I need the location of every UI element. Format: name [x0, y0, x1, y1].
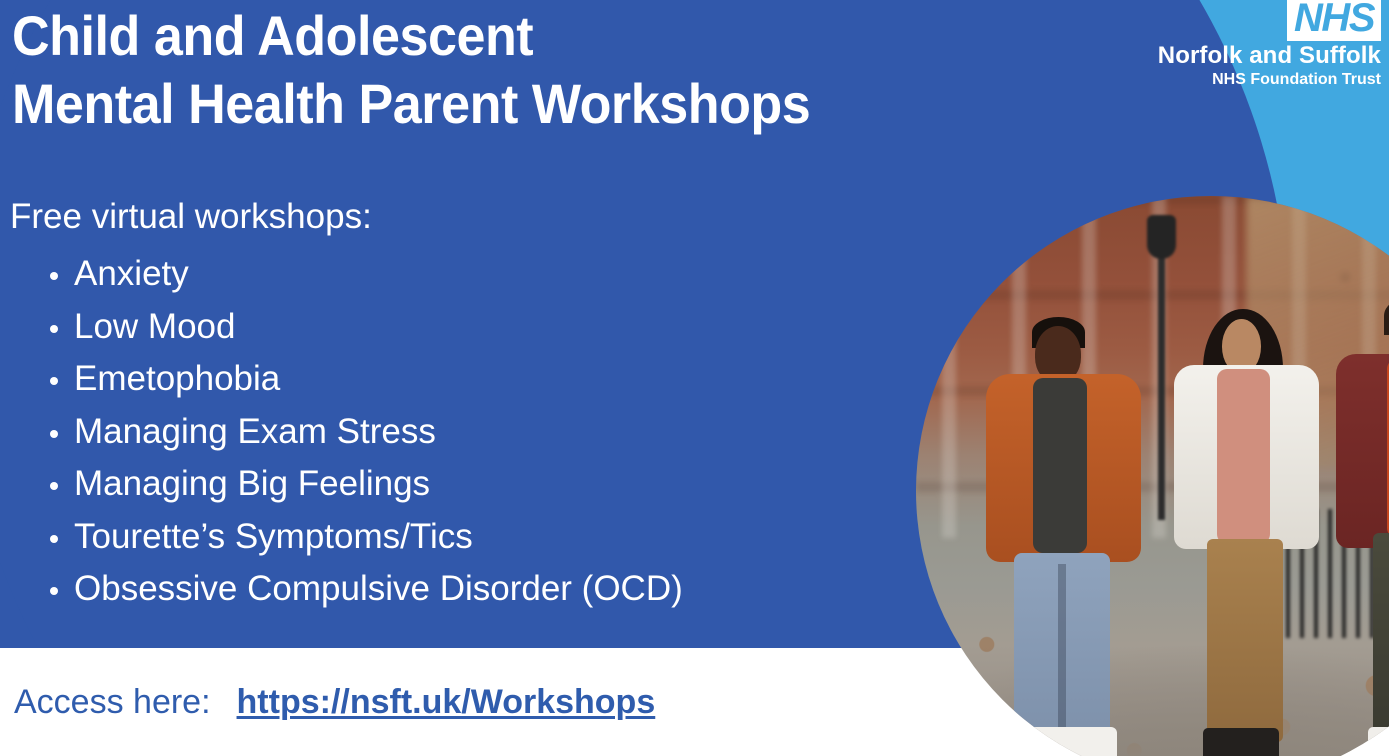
- nhs-trust-name: Norfolk and Suffolk: [1158, 43, 1381, 69]
- workshop-list: Anxiety Low Mood Emetophobia Managing Ex…: [42, 248, 683, 616]
- workshops-url-link[interactable]: https://nsft.uk/Workshops: [237, 682, 656, 722]
- person-hoodie: [1217, 369, 1270, 544]
- nhs-trust-logo: NHS Norfolk and Suffolk NHS Foundation T…: [1158, 0, 1381, 89]
- list-item: Obsessive Compulsive Disorder (OCD): [42, 563, 683, 616]
- list-item: Emetophobia: [42, 353, 683, 406]
- nhs-trust-subtitle: NHS Foundation Trust: [1158, 70, 1381, 89]
- list-item: Managing Exam Stress: [42, 406, 683, 459]
- photo-person-left: [975, 326, 1152, 756]
- person-shirt: [1033, 378, 1086, 553]
- students-walking-photo: [916, 196, 1389, 756]
- person-cargo-trousers: [1373, 533, 1389, 741]
- photo-person-right: [1329, 302, 1389, 756]
- list-item: Anxiety: [42, 248, 683, 301]
- page-title-line-1: Child and Adolescent: [12, 2, 810, 70]
- person-hair: [1384, 297, 1389, 335]
- photo-background: [916, 196, 1389, 756]
- person-boots: [1203, 728, 1279, 756]
- person-sneakers: [1007, 727, 1117, 756]
- list-item: Low Mood: [42, 301, 683, 354]
- page-title-line-2: Mental Health Parent Workshops: [12, 70, 810, 138]
- access-footer: Access here: https://nsft.uk/Workshops: [14, 682, 655, 722]
- person-sneakers: [1368, 727, 1389, 756]
- poster-canvas: NHS Norfolk and Suffolk NHS Foundation T…: [0, 0, 1389, 756]
- page-title: Child and Adolescent Mental Health Paren…: [12, 2, 810, 138]
- list-item: Tourette’s Symptoms/Tics: [42, 511, 683, 564]
- access-here-label: Access here:: [14, 682, 211, 722]
- person-jeans: [1014, 553, 1110, 736]
- list-item: Managing Big Feelings: [42, 458, 683, 511]
- lead-text: Free virtual workshops:: [10, 196, 372, 238]
- photo-person-middle: [1164, 314, 1329, 756]
- nhs-logo-mark: NHS: [1287, 0, 1381, 41]
- person-trousers: [1207, 539, 1283, 741]
- person-maroon-jacket: [1336, 354, 1389, 548]
